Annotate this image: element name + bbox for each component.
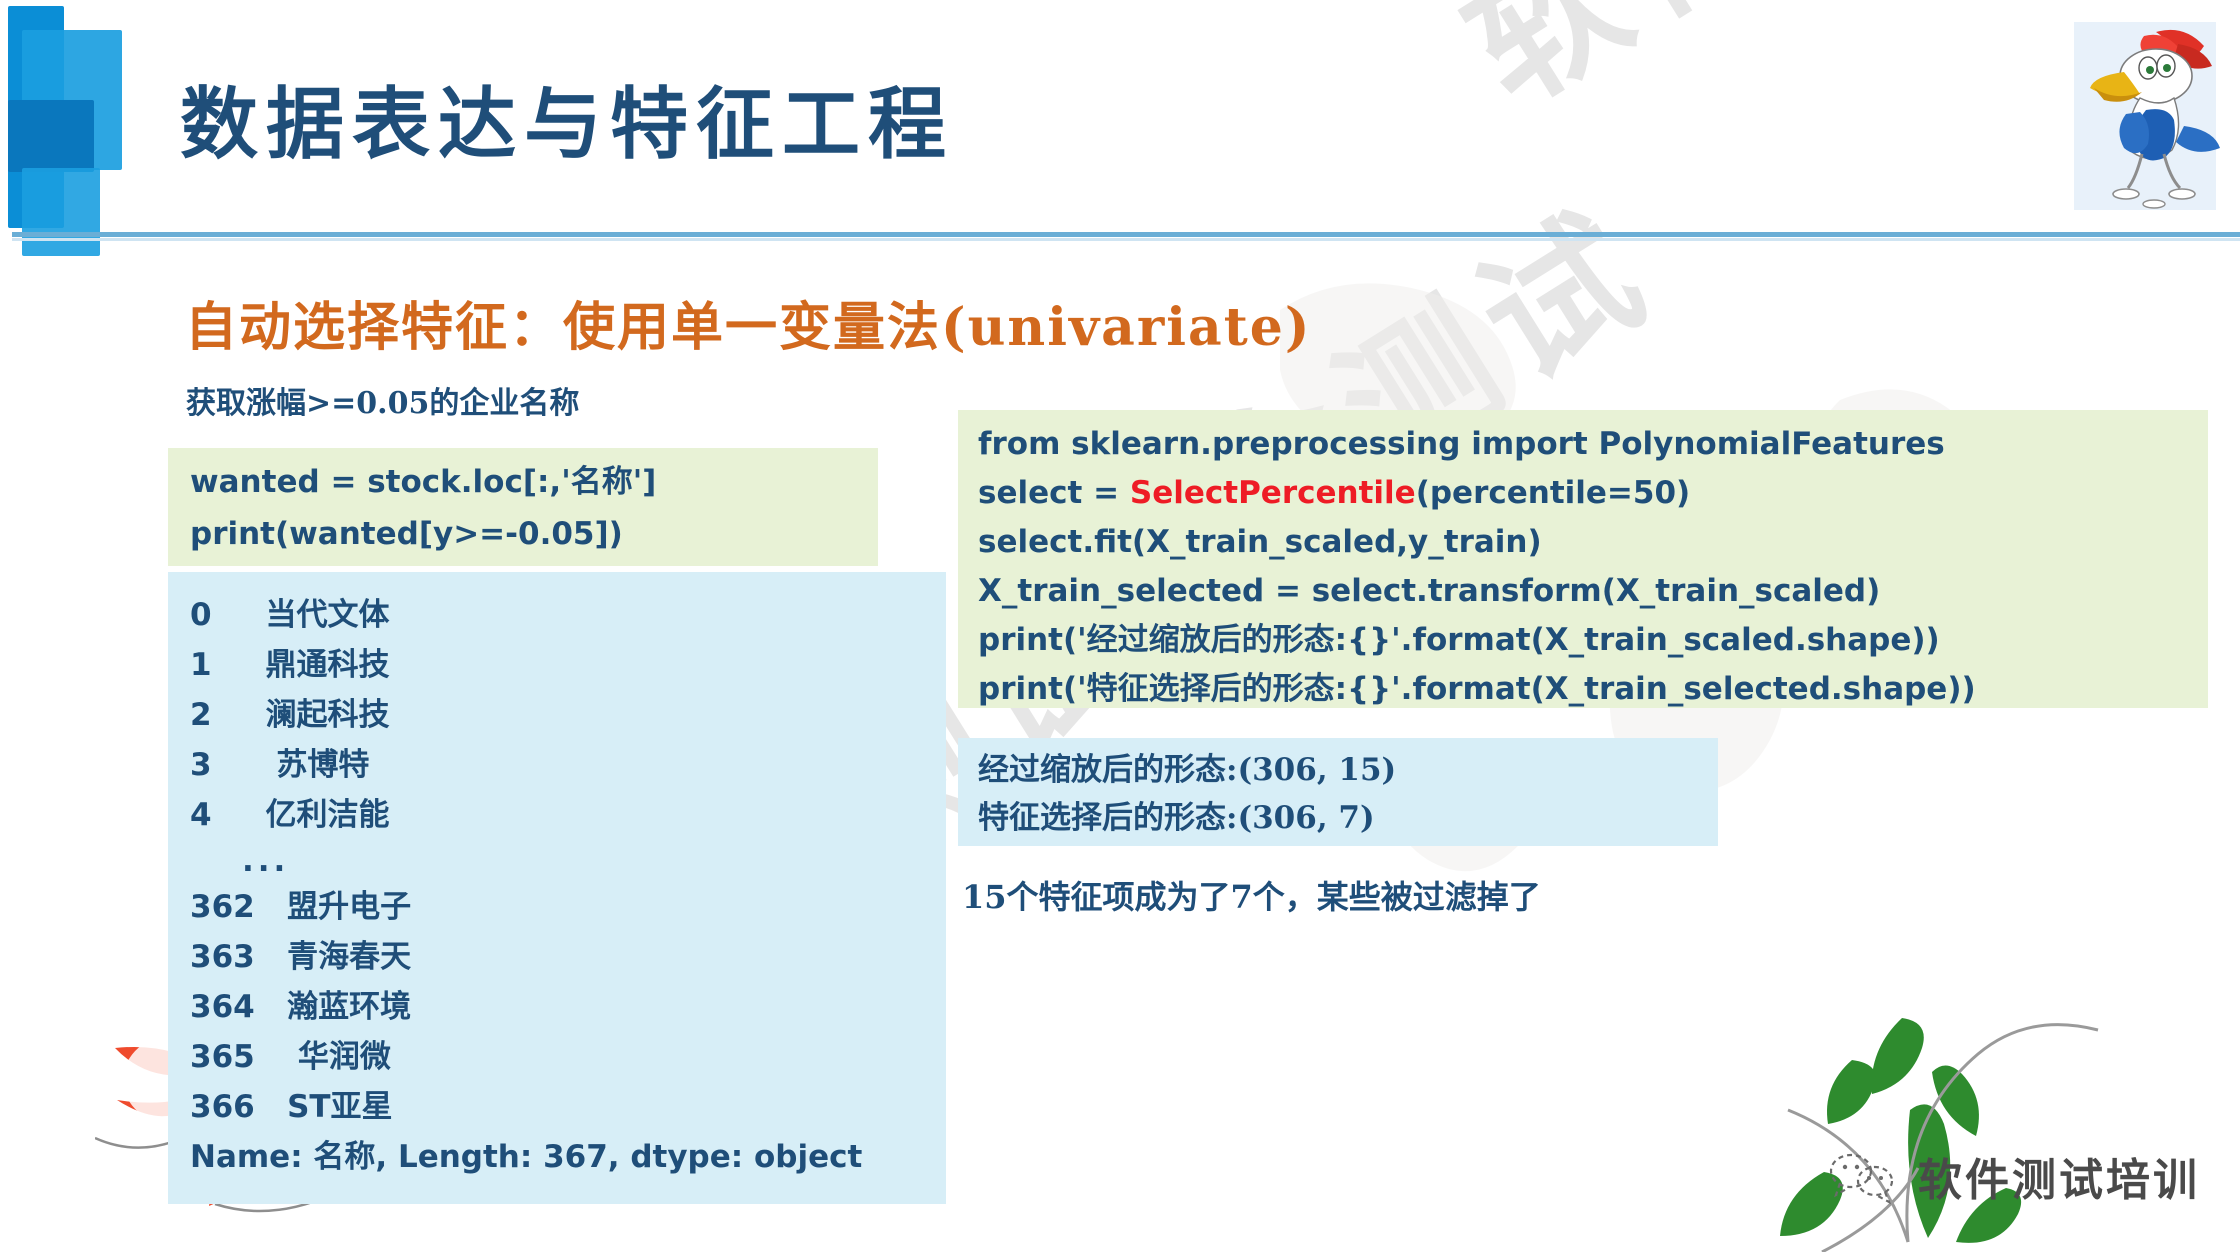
right-note-text: 15个特征项成为了7个，某些被过滤掉了 (962, 872, 1541, 918)
left-output-block: 0 当代文体 1 鼎通科技 2 澜起科技 3 苏博特 4 亿利洁能 ... 36… (168, 572, 946, 1204)
output-row: 364 瀚蓝环境 (190, 982, 946, 1032)
left-code-line: print(wanted[y>=-0.05]) (190, 508, 878, 560)
code-prefix: select = (978, 475, 1130, 511)
woodpecker-mascot-icon (2060, 14, 2230, 219)
output-row: 1 鼎通科技 (190, 640, 946, 690)
output-row: 0 当代文体 (190, 590, 946, 640)
leaf-decoration (1602, 1002, 2222, 1252)
slide-header: 数据表达与特征工程 (0, 0, 2240, 240)
right-code-line-highlighted: select = SelectPercentile(percentile=50) (978, 469, 2208, 518)
right-code-line: X_train_selected = select.transform(X_tr… (978, 567, 2208, 616)
output-row: 365 华润微 (190, 1032, 946, 1082)
section-subtitle: 自动选择特征：使用单一变量法(univariate) (185, 285, 1311, 360)
output-row: 363 青海春天 (190, 932, 946, 982)
right-code-block: from sklearn.preprocessing import Polyno… (958, 410, 2208, 708)
left-code-block: wanted = stock.loc[:,'名称'] print(wanted[… (168, 448, 878, 566)
output-row: 特征选择后的形态:(306, 7) (978, 794, 1718, 842)
output-row: 经过缩放后的形态:(306, 15) (978, 746, 1718, 794)
right-code-line: print('经过缩放后的形态:{}'.format(X_train_scale… (978, 616, 2208, 665)
right-output-block: 经过缩放后的形态:(306, 15) 特征选择后的形态:(306, 7) (958, 738, 1718, 846)
left-code-line: wanted = stock.loc[:,'名称'] (190, 456, 878, 508)
brand-label: 软件测试培训 (1918, 1144, 2200, 1208)
slide-canvas: 软件测试 白盒测试 黑盒测试 数据表达与特征工程 (0, 0, 2240, 1252)
output-row: 366 ST亚星 (190, 1082, 946, 1132)
output-row: 362 盟升电子 (190, 882, 946, 932)
right-code-line: select.fit(X_train_scaled,y_train) (978, 518, 2208, 567)
output-footer: Name: 名称, Length: 367, dtype: object (190, 1132, 946, 1182)
output-row: 4 亿利洁能 (190, 790, 946, 840)
brand-footer: 软件测试培训 (1828, 1144, 2200, 1208)
code-highlight-token: SelectPercentile (1130, 475, 1416, 511)
left-lead-text: 获取涨幅>=0.05的企业名称 (186, 378, 579, 422)
output-ellipsis: ... (190, 840, 946, 882)
header-divider-secondary (12, 238, 2240, 241)
code-suffix: (percentile=50) (1416, 475, 1691, 511)
header-divider (12, 232, 2240, 237)
output-row: 2 澜起科技 (190, 690, 946, 740)
right-code-line: print('特征选择后的形态:{}'.format(X_train_selec… (978, 665, 2208, 714)
wechat-icon (1828, 1147, 1896, 1205)
output-row: 3 苏博特 (190, 740, 946, 790)
page-title: 数据表达与特征工程 (180, 62, 954, 174)
right-code-line: from sklearn.preprocessing import Polyno… (978, 420, 2208, 469)
